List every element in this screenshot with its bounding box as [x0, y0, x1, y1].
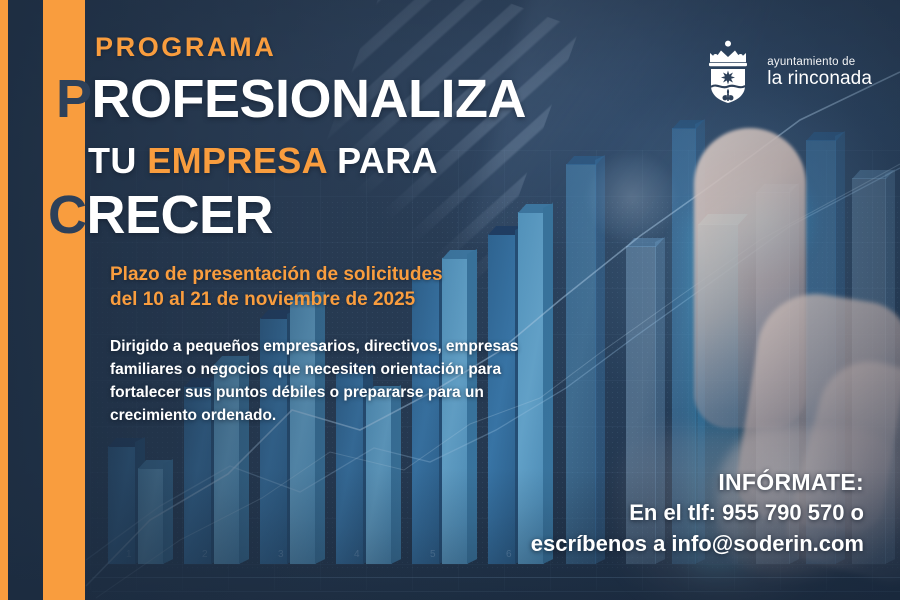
logo-line-1: ayuntamiento de — [767, 56, 872, 68]
headline-line-2-part-2: PARA — [327, 140, 438, 181]
headline-line-2-part-1: TU — [88, 140, 147, 181]
headline-line-3-text: RECER — [87, 185, 274, 245]
contact-email[interactable]: escríbenos a info@soderin.com — [531, 529, 864, 560]
poster-root: 1 2 3 4 5 6 — [0, 0, 900, 600]
headline-line-1: PROFESIONALIZA — [56, 72, 526, 126]
program-description: Dirigido a pequeños empresarios, directi… — [110, 336, 540, 428]
contact-phone[interactable]: En el tlf: 955 790 570 o — [531, 498, 864, 529]
deadline-line-2: del 10 al 21 de noviembre de 2025 — [110, 287, 443, 312]
headline-line-2: TU EMPRESA PARA — [88, 143, 438, 179]
headline-line-1-text: ROFESIONALIZA — [92, 69, 527, 129]
headline-line-3: CRECER — [48, 188, 273, 242]
contact-heading: INFÓRMATE: — [531, 466, 864, 498]
ayuntamiento-logo[interactable]: ayuntamiento de la rinconada — [702, 40, 872, 104]
headline-line-3-overlap-letter: C — [48, 185, 87, 245]
logo-text: ayuntamiento de la rinconada — [767, 56, 872, 89]
headline-line-1-overlap-letter: P — [56, 69, 92, 129]
program-kicker: PROGRAMA — [95, 32, 276, 63]
logo-line-2: la rinconada — [767, 69, 872, 89]
contact-block: INFÓRMATE: En el tlf: 955 790 570 o escr… — [531, 466, 864, 560]
deadline-line-1: Plazo de presentación de solicitudes — [110, 262, 443, 287]
coat-of-arms-icon — [702, 40, 754, 104]
application-deadline: Plazo de presentación de solicitudes del… — [110, 262, 443, 312]
headline-line-2-accent: EMPRESA — [147, 140, 327, 181]
